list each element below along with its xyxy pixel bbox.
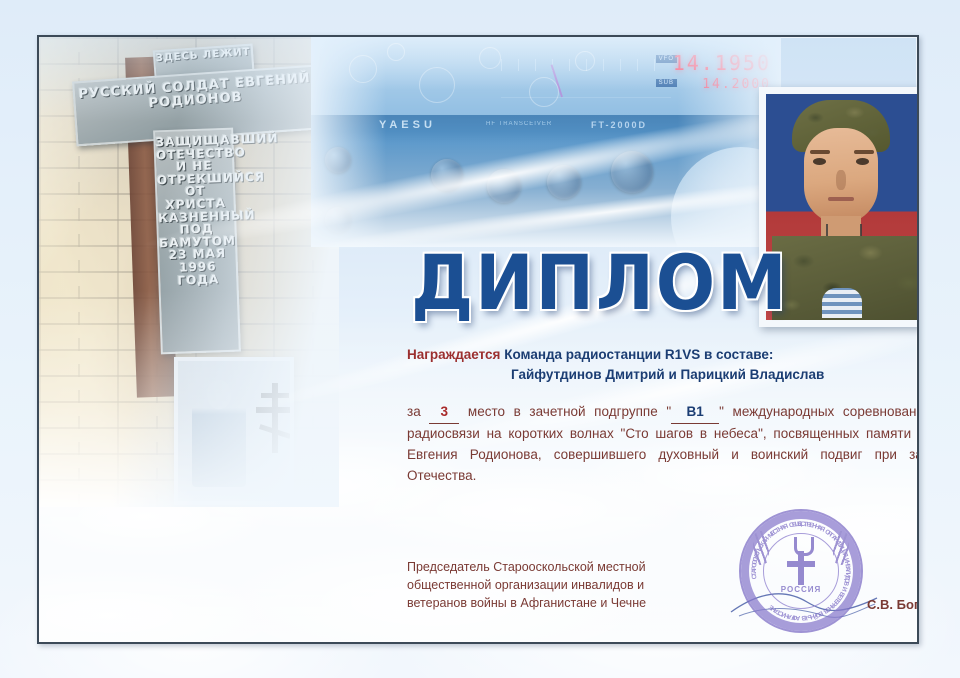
certificate-frame: ЗДЕСЬ ЛЕЖИТ РУССКИЙ СОЛДАТ ЕВГЕНИЙ РОДИО…: [37, 35, 919, 644]
recipient-line-2: Гайфутдинов Дмитрий и Парицкий Владислав: [407, 365, 919, 385]
seal-emblem-icon: [781, 537, 821, 589]
signatory-title: Председатель Старооскольской местной общ…: [407, 558, 707, 612]
page-title: ДИПЛОМ: [411, 245, 788, 321]
bubble-decoration: [339, 37, 639, 187]
recipient-line-1: Команда радиостанции R1VS в составе:: [504, 347, 773, 362]
body-mid-1: место в зачетной подгруппе ": [468, 404, 671, 419]
signatory-title-line-2: общественной организации инвалидов и: [407, 576, 707, 594]
seal-wheat-right: [833, 531, 849, 565]
telnyashka-shirt: [822, 288, 862, 318]
award-lead-label: Награждается: [407, 347, 500, 362]
signatory-name: С.В. Богунов: [867, 597, 919, 612]
seal-country-label: РОССИЯ: [741, 585, 861, 594]
seal-wheat-left: [753, 531, 769, 565]
diploma-certificate: ЗДЕСЬ ЛЕЖИТ РУССКИЙ СОЛДАТ ЕВГЕНИЙ РОДИО…: [0, 0, 960, 678]
certificate-body: Награждается Команда радиостанции R1VS в…: [407, 345, 919, 487]
signatory-title-line-1: Председатель Старооскольской местной: [407, 558, 707, 576]
body-prefix: за: [407, 404, 421, 419]
official-seal: СТАРООСКОЛЬСКАЯ МЕСТНАЯ ОБЩЕСТВЕННАЯ ОРГ…: [739, 509, 863, 633]
award-description: за 3 место в зачетной подгруппе "B1" меж…: [407, 402, 919, 487]
signatory-title-line-3: ветеранов войны в Афганистане и Чечне: [407, 594, 707, 612]
group-value: B1: [671, 402, 719, 424]
memorial-photo: ЗДЕСЬ ЛЕЖИТ РУССКИЙ СОЛДАТ ЕВГЕНИЙ РОДИО…: [39, 37, 339, 507]
photo-fade-overlay: [39, 37, 339, 507]
place-value: 3: [429, 402, 459, 424]
portrait-photo: [766, 94, 919, 320]
award-recipient-block: Награждается Команда радиостанции R1VS в…: [407, 345, 919, 384]
